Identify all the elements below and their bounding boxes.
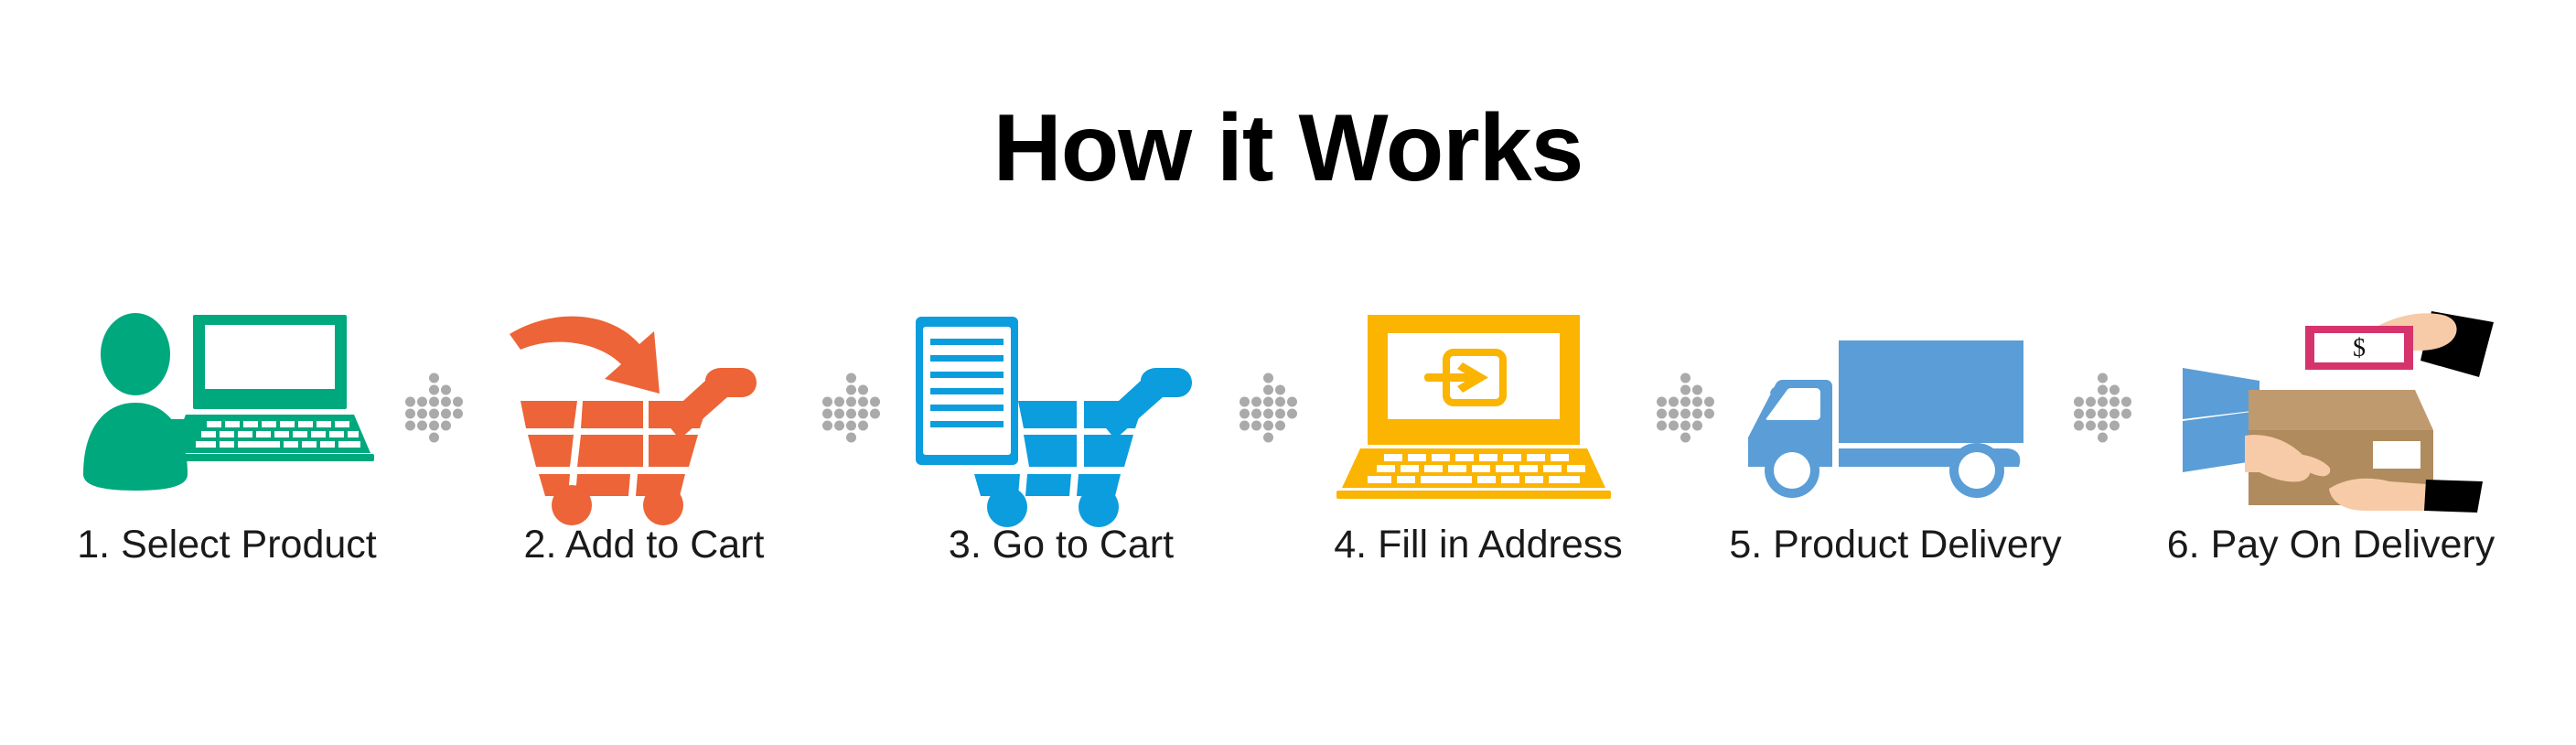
separator-3: [1235, 302, 1304, 513]
delivery-truck-icon: [1744, 302, 2046, 513]
step-2-add-to-cart[interactable]: 2. Add to Cart: [470, 302, 818, 632]
separator-5: [2069, 302, 2139, 513]
step-2-label: 2. Add to Cart: [524, 524, 765, 567]
step-6-label: 6. Pay On Delivery: [2167, 524, 2495, 567]
step-1-label: 1. Select Product: [77, 524, 376, 567]
step-6-pay-on-delivery[interactable]: $: [2139, 302, 2523, 632]
step-1-select-product[interactable]: 1. Select Product: [53, 302, 401, 632]
step-4-fill-in-address[interactable]: 4. Fill in Address: [1304, 302, 1652, 632]
shopping-cart-with-arrow-icon: [493, 302, 795, 513]
hands-exchanging-box-and-money-icon: $: [2157, 302, 2505, 513]
step-4-label: 4. Fill in Address: [1334, 524, 1622, 567]
dotted-arrow-right-icon: [405, 368, 466, 447]
dotted-arrow-right-icon: [822, 368, 883, 447]
dotted-arrow-right-icon: [1657, 368, 1717, 447]
step-5-product-delivery[interactable]: 5. Product Delivery: [1722, 302, 2069, 632]
how-it-works-infographic: How it Works: [0, 0, 2576, 745]
steps-row: 1. Select Product: [0, 302, 2576, 632]
dotted-arrow-right-icon: [2074, 368, 2134, 447]
step-3-go-to-cart[interactable]: 3. Go to Cart: [887, 302, 1235, 632]
person-with-laptop-icon: [76, 302, 378, 513]
document-with-cart-icon: [910, 302, 1212, 513]
separator-2: [818, 302, 887, 513]
separator-1: [401, 302, 470, 513]
step-5-label: 5. Product Delivery: [1729, 524, 2061, 567]
banknote: $: [2305, 326, 2413, 370]
laptop-with-login-arrow-icon: [1327, 302, 1629, 513]
sleeve-left-upper: [2183, 368, 2259, 419]
dotted-arrow-right-icon: [1240, 368, 1300, 447]
money-symbol: $: [2353, 334, 2366, 362]
page-title: How it Works: [0, 101, 2576, 196]
sleeve-bottom: [2424, 480, 2483, 513]
box-label: [2373, 441, 2420, 469]
step-3-label: 3. Go to Cart: [949, 524, 1174, 567]
separator-4: [1652, 302, 1722, 513]
